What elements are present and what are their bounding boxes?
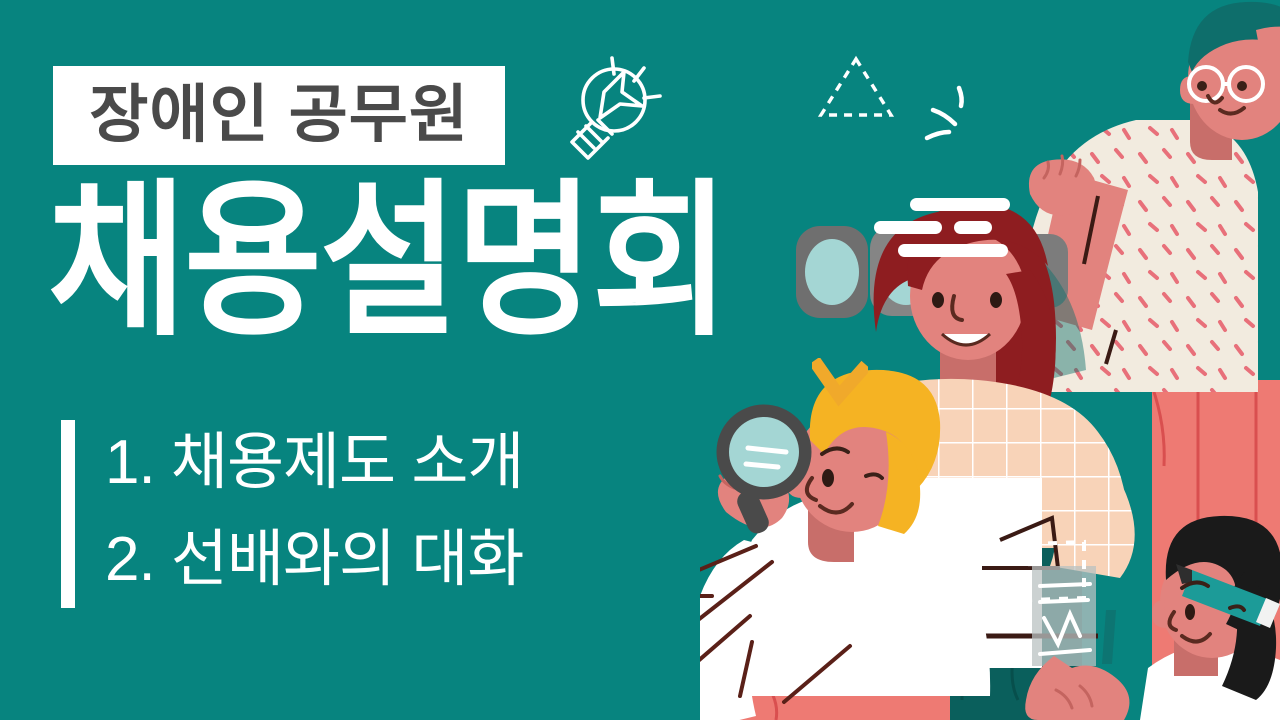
text-lines-icon [880,198,1010,270]
sparkle-icon [905,80,975,150]
agenda-section: 1. 채용제도 소개 2. 선배와의 대화 [61,418,681,610]
dashed-triangle-icon [816,55,896,121]
text-line-3 [898,244,1008,257]
people-searching-illustration [700,0,1280,720]
agenda-list: 1. 채용제도 소개 2. 선배와의 대화 [105,414,523,608]
text-line-2b [954,221,992,234]
text-line-1 [910,198,1010,211]
lightbulb-icon [548,52,668,172]
agenda-item-1: 1. 채용제도 소개 [105,414,523,511]
agenda-item-2: 2. 선배와의 대화 [105,511,523,608]
text-line-2a [874,221,942,234]
agenda-accent-bar [61,420,75,608]
text-line-row-2 [874,221,1010,234]
page-title: 채용설명회 [48,173,808,348]
badge: 장애인 공무원 [53,66,505,165]
chevron-down-icon [812,358,868,410]
page-title-text: 채용설명회 [48,177,728,345]
poster-canvas: 장애인 공무원 채용설명회 1. 채용제도 소개 2. 선배와의 대화 [0,0,1280,720]
badge-label: 장애인 공무원 [89,84,469,147]
